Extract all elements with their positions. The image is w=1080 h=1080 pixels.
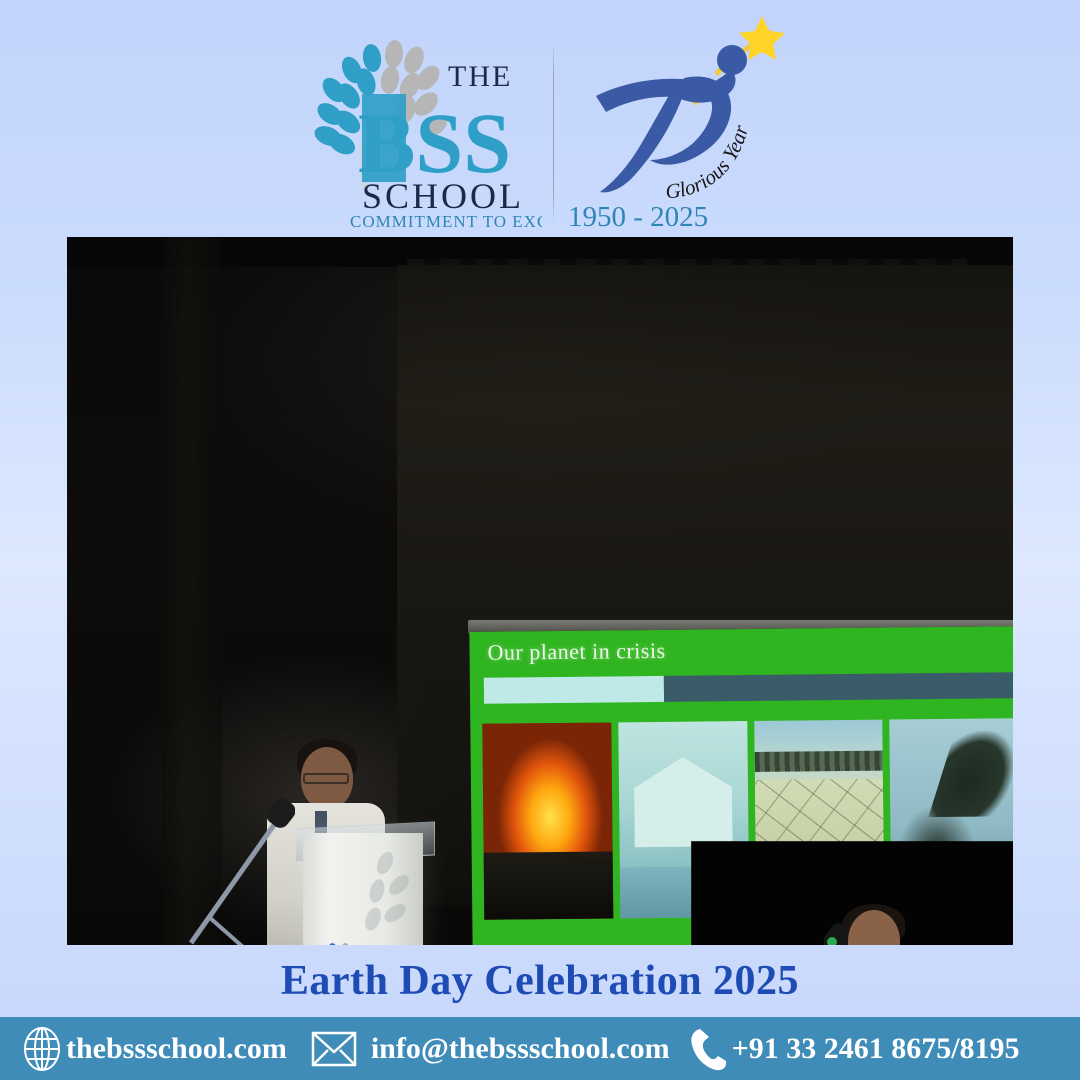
- globe-icon: [18, 1025, 66, 1073]
- event-photograph: Our planet in crisis: [67, 237, 1013, 945]
- email-label: info@thebssschool.com: [371, 1032, 670, 1066]
- phone-label: +91 33 2461 8675/8195: [732, 1032, 1020, 1066]
- inset-speaker-figure: [800, 904, 950, 945]
- logo-the-text: THE: [448, 60, 512, 93]
- header-branding-bar: THE BSS SCHOOL COMMITMENT TO EXCELLENCE …: [0, 0, 1080, 237]
- bss-school-logo: THE BSS SCHOOL COMMITMENT TO EXCELLENCE: [302, 30, 542, 230]
- footer-email-item[interactable]: info@thebssschool.com: [309, 1028, 670, 1070]
- phone-icon: [688, 1026, 728, 1072]
- bss-tree-logo-icon: THE BSS SCHOOL COMMITMENT TO EXCELLENCE: [302, 30, 542, 230]
- slide-accent-bar-light: [484, 676, 664, 704]
- speaker-glasses: [303, 773, 349, 784]
- anniversary-arc-label: Glorious Years: [792, 12, 793, 13]
- logo-school-text: SCHOOL: [362, 176, 524, 216]
- inset-photograph: THE BSS SCHOOL: [692, 842, 1013, 945]
- slide-image-wildfire: [482, 722, 613, 919]
- website-label: thebssschool.com: [66, 1032, 287, 1066]
- contact-footer-bar: thebssschool.com info@thebssschool.com +…: [0, 1017, 1080, 1080]
- footer-website-item[interactable]: thebssschool.com: [18, 1025, 287, 1073]
- envelope-icon: [309, 1028, 359, 1070]
- anniversary-years-text: 1950 - 2025: [568, 201, 708, 230]
- microphone-icon: [185, 797, 295, 945]
- caption-text: Earth Day Celebration 2025: [281, 957, 799, 1005]
- podium-banner: THE BSS SCHOOL COMMITMENT TO EXCELLENCE …: [303, 833, 423, 945]
- microphone-stand: [185, 797, 295, 945]
- anniversary-number-text: 75: [792, 12, 793, 13]
- footer-phone-item[interactable]: +91 33 2461 8675/8195: [688, 1026, 1020, 1072]
- 75-glorious-years-emblem-icon: Glorious Years 1950 - 2025: [566, 12, 792, 230]
- logo-divider: [553, 42, 554, 224]
- slide-title-text: Our planet in crisis: [487, 638, 665, 666]
- podium-bss-logo-icon: THE BSS SCHOOL COMMITMENT TO EXCELLENCE: [311, 941, 415, 945]
- logo-tagline-text: COMMITMENT TO EXCELLENCE: [350, 212, 542, 230]
- podium-leaf-pattern-icon: [303, 833, 423, 945]
- event-caption: Earth Day Celebration 2025: [0, 947, 1080, 1015]
- slide-accent-bar-dark: [664, 672, 1013, 702]
- anniversary-75-logo: Glorious Years 1950 - 2025 75 Glorious Y…: [566, 12, 792, 230]
